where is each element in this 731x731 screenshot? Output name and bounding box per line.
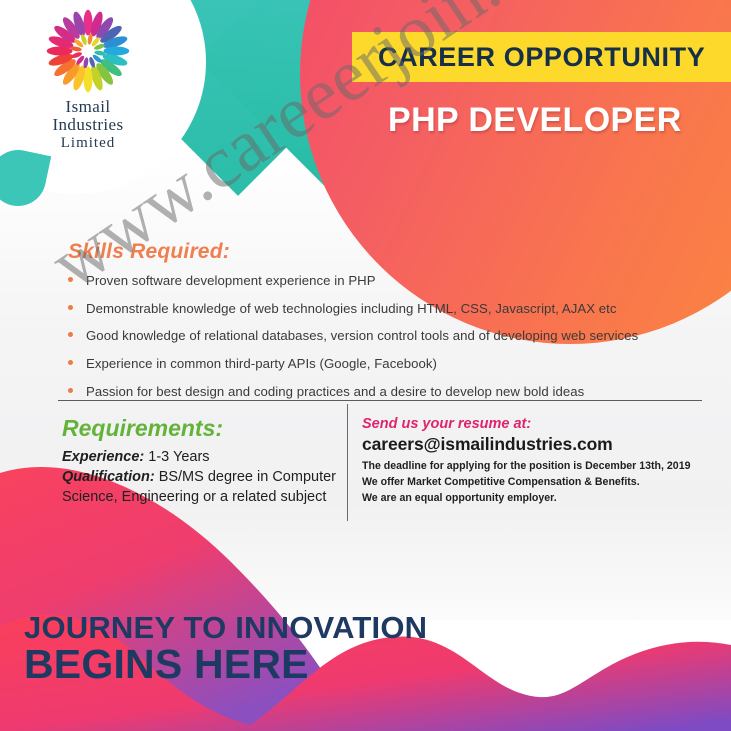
poster-content: Skills Required: Proven software develop… bbox=[0, 0, 731, 731]
list-item-text: Passion for best design and coding pract… bbox=[86, 384, 584, 399]
horizontal-divider bbox=[58, 400, 702, 401]
slogan-line2-bold: BEGINS bbox=[24, 641, 182, 687]
contact-note-line1: The deadline for applying for the positi… bbox=[362, 460, 690, 472]
contact-note: The deadline for applying for the positi… bbox=[362, 458, 692, 506]
contact-note-line2: We offer Market Competitive Compensation… bbox=[362, 476, 640, 488]
qualification-label: Qualification: bbox=[62, 469, 155, 485]
experience-label: Experience: bbox=[62, 449, 144, 465]
skills-list: Proven software development experience i… bbox=[68, 272, 698, 410]
footer-slogan: JOURNEY TO INNOVATION BEGINS HERE bbox=[24, 612, 427, 686]
contact-heading: Send us your resume at: bbox=[362, 416, 531, 432]
bullet-dot-icon bbox=[68, 360, 73, 365]
bullet-dot-icon bbox=[68, 277, 73, 282]
list-item-text: Proven software development experience i… bbox=[86, 273, 376, 288]
requirements-heading: Requirements: bbox=[62, 415, 223, 442]
vertical-divider bbox=[347, 404, 348, 521]
bullet-dot-icon bbox=[68, 388, 73, 393]
bullet-dot-icon bbox=[68, 332, 73, 337]
list-item-text: Demonstrable knowledge of web technologi… bbox=[86, 301, 617, 316]
list-item-text: Experience in common third-party APIs (G… bbox=[86, 356, 437, 371]
list-item: Demonstrable knowledge of web technologi… bbox=[68, 300, 698, 317]
list-item: Experience in common third-party APIs (G… bbox=[68, 355, 698, 372]
slogan-line2-rest: HERE bbox=[194, 641, 309, 687]
experience-value: 1-3 Years bbox=[148, 449, 209, 465]
contact-email[interactable]: careers@ismailindustries.com bbox=[362, 434, 613, 455]
list-item: Passion for best design and coding pract… bbox=[68, 383, 698, 400]
skills-heading: Skills Required: bbox=[68, 240, 230, 264]
list-item-text: Good knowledge of relational databases, … bbox=[86, 328, 638, 343]
contact-note-line3: We are an equal opportunity employer. bbox=[362, 492, 557, 504]
slogan-line2: BEGINS HERE bbox=[24, 643, 427, 686]
bullet-dot-icon bbox=[68, 305, 73, 310]
list-item: Proven software development experience i… bbox=[68, 272, 698, 289]
list-item: Good knowledge of relational databases, … bbox=[68, 327, 698, 344]
job-posting-poster: Ismail Industries Limited CAREER OPPORTU… bbox=[0, 0, 731, 731]
requirements-body: Experience: 1-3 Years Qualification: BS/… bbox=[62, 448, 337, 508]
